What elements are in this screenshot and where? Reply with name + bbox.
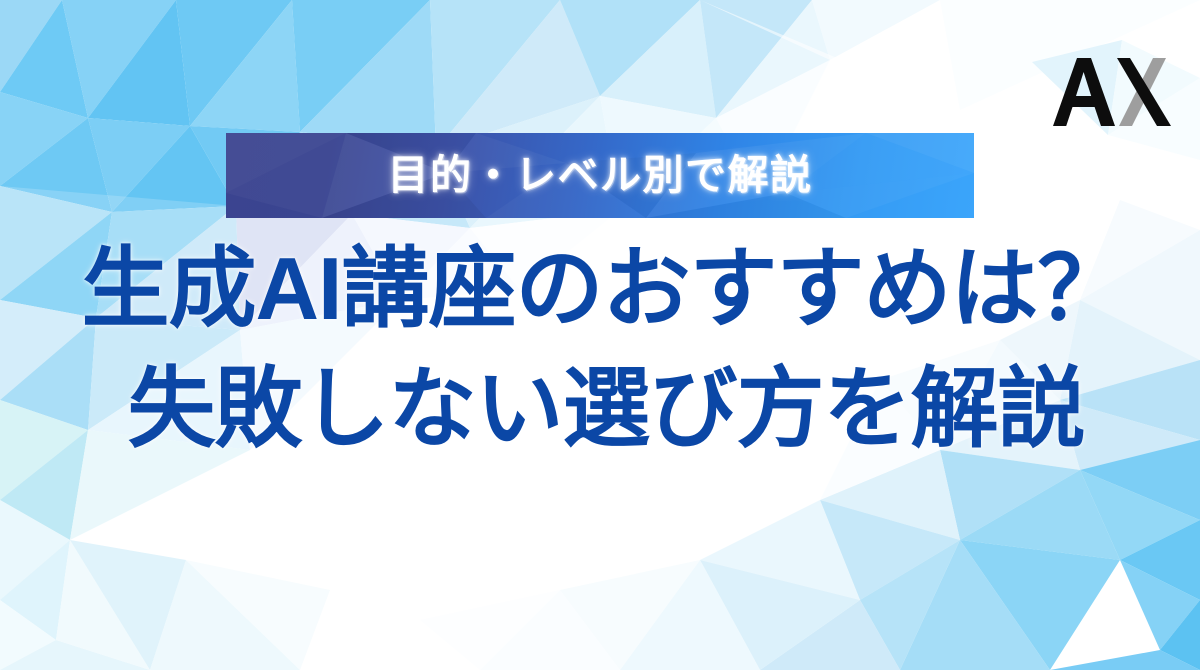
badge-banner: 目的・レベル別で解説 bbox=[226, 133, 974, 218]
page-title-line-2: 失敗しない選び方を解説 bbox=[0, 363, 1200, 455]
page-title-line-1: 生成AI講座のおすすめは？ bbox=[0, 243, 1200, 335]
badge-label: 目的・レベル別で解説 bbox=[388, 155, 813, 196]
logo-letter-a bbox=[1053, 58, 1115, 126]
ax-logo bbox=[1053, 52, 1171, 128]
thumbnail-canvas: 目的・レベル別で解説 生成AI講座のおすすめは？ 失敗しない選び方を解説 bbox=[0, 0, 1200, 670]
page-title: 生成AI講座のおすすめは？ 失敗しない選び方を解説 bbox=[0, 243, 1200, 454]
